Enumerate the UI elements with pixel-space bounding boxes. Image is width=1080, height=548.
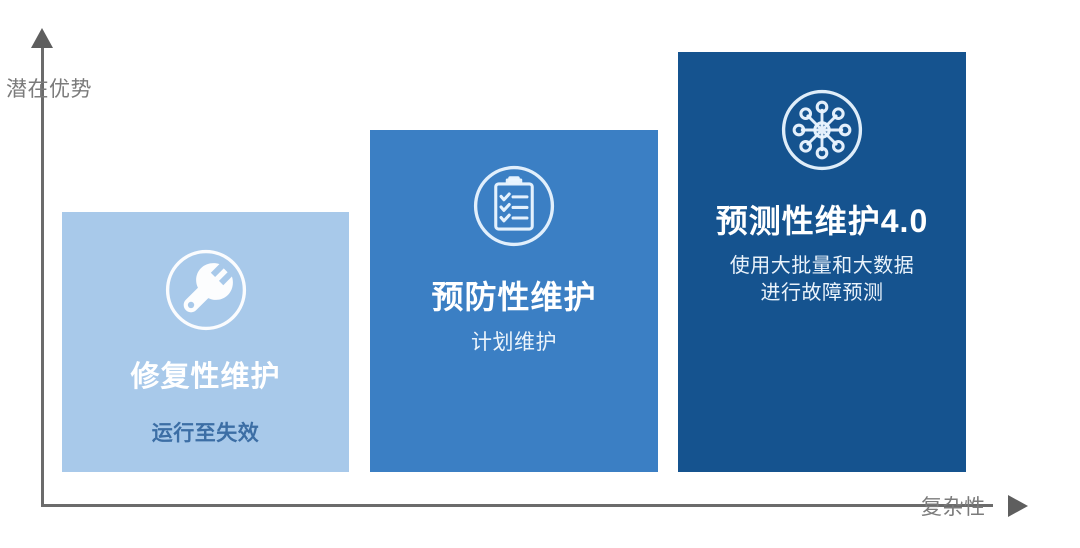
clipboard-checklist-icon — [466, 158, 562, 254]
x-axis-line — [41, 504, 993, 507]
arrow-right-icon — [1008, 495, 1028, 517]
maintenance-maturity-chart: 潜在优势 复杂性 修复性维护 运行至失效 — [0, 0, 1080, 548]
bar-predictive-maintenance: 预测性维护4.0 使用大批量和大数据 进行故障预测 — [678, 52, 966, 472]
y-axis-line — [41, 42, 44, 507]
y-axis-label: 潜在优势 — [6, 73, 92, 103]
bar-title: 修复性维护 — [130, 362, 280, 394]
bar-corrective-maintenance: 修复性维护 运行至失效 — [62, 212, 349, 472]
bar-subtitle: 运行至失效 — [152, 420, 260, 448]
bar-subtitle: 计划维护 — [471, 329, 557, 357]
arrow-up-icon — [31, 28, 53, 48]
x-axis-label: 复杂性 — [921, 491, 986, 521]
wrench-icon — [158, 242, 254, 338]
bar-subtitle-line-2: 进行故障预测 — [702, 280, 942, 307]
bar-subtitle-line-1: 使用大批量和大数据 — [702, 253, 942, 280]
bar-title: 预防性维护 — [431, 280, 596, 315]
bar-title: 预测性维护4.0 — [716, 204, 929, 239]
bar-preventive-maintenance: 预防性维护 计划维护 — [370, 130, 658, 472]
network-hub-icon — [774, 82, 870, 178]
bar-subtitle: 使用大批量和大数据 进行故障预测 — [702, 253, 942, 307]
